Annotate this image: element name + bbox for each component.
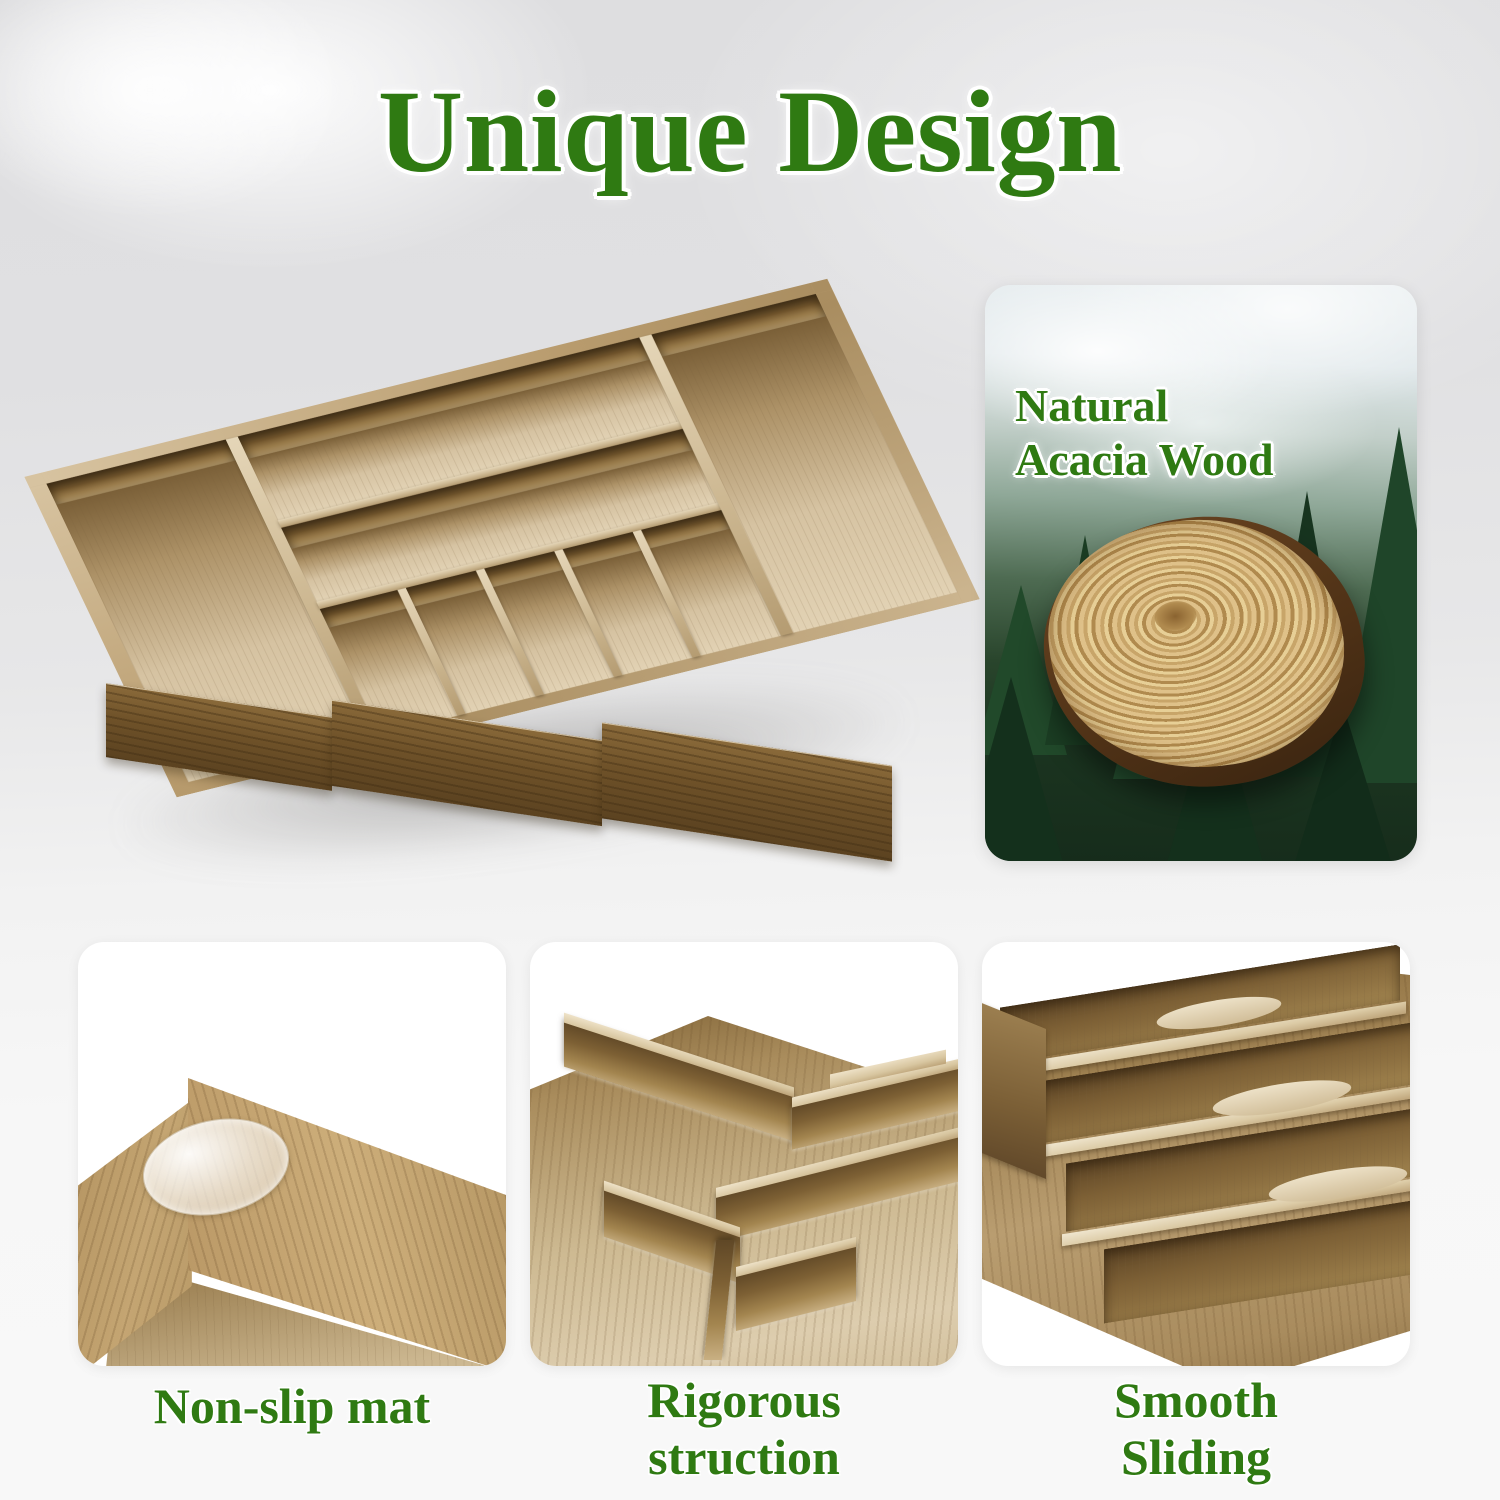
caption-line-2: struction <box>524 1429 964 1486</box>
tray-stage <box>54 268 954 868</box>
wood-slice-image <box>1030 499 1379 806</box>
natural-acacia-wood-caption: Natural Acacia Wood <box>1015 379 1397 488</box>
expander-outer-rail <box>982 999 1046 1179</box>
caption-line-2: Sliding <box>976 1429 1416 1486</box>
tray-corner-closeup <box>78 1042 506 1366</box>
caption-line-1: Rigorous <box>524 1372 964 1429</box>
feature-caption-rigorous-struction: Rigorous struction <box>524 1372 964 1486</box>
slot-divider-4 <box>633 530 701 658</box>
feature-card-smooth-sliding <box>982 942 1410 1366</box>
infographic-canvas: Unique Design <box>0 0 1500 1500</box>
page-title: Unique Design <box>0 72 1500 192</box>
sliding-rail-closeup <box>982 942 1410 1366</box>
feature-card-rigorous-struction <box>530 942 958 1366</box>
hero-product-image <box>54 268 954 868</box>
slot-divider-2 <box>476 569 544 697</box>
caption-line-1: Natural <box>1015 379 1397 433</box>
caption-line-1: Smooth <box>976 1372 1416 1429</box>
feature-caption-smooth-sliding: Smooth Sliding <box>976 1372 1416 1486</box>
caption-line-2: Acacia Wood <box>1015 433 1397 487</box>
caption-line-1: Non-slip mat <box>72 1378 512 1435</box>
natural-acacia-wood-card: Natural Acacia Wood <box>985 285 1417 861</box>
compartment-dividers-closeup <box>530 942 958 1366</box>
slot-divider-3 <box>554 549 622 677</box>
feature-card-non-slip-mat <box>78 942 506 1366</box>
feature-caption-non-slip-mat: Non-slip mat <box>72 1378 512 1435</box>
